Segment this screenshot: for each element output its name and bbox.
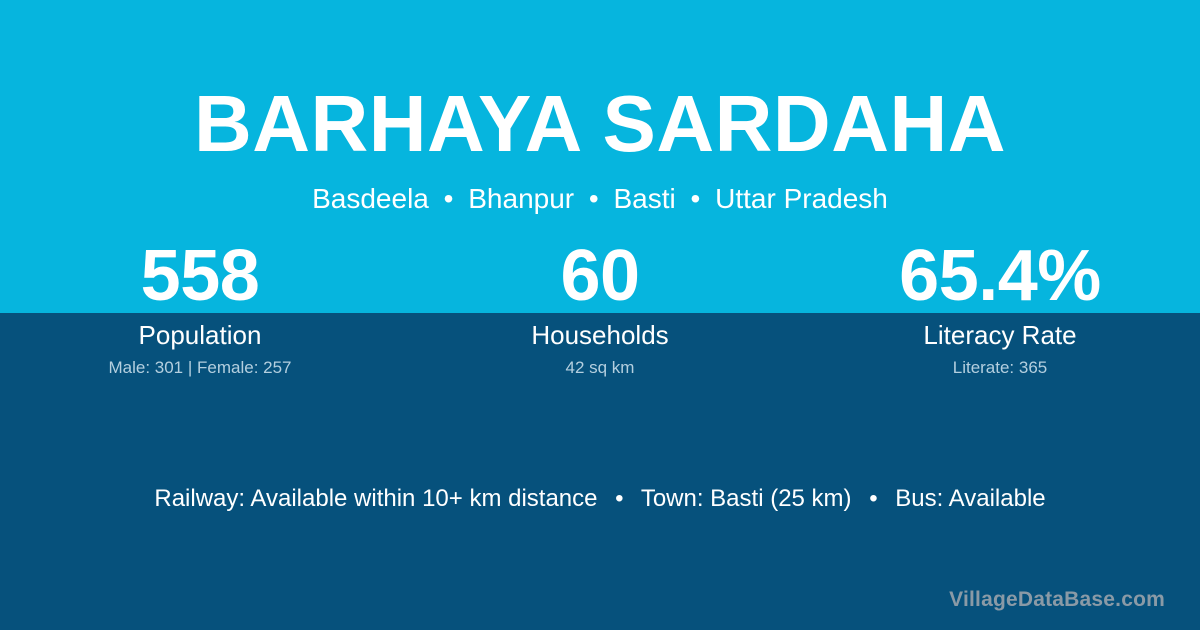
stat-literacy-rate: 65.4% Literacy Rate Literate: 365 [800, 240, 1200, 378]
stat-sub-detail: Male: 301 | Female: 257 [0, 358, 400, 378]
transport-separator-icon: • [604, 485, 634, 512]
stat-households: 60 Households 42 sq km [400, 240, 800, 378]
transport-town: Town: Basti (25 km) [641, 485, 852, 512]
breadcrumb-separator-icon: • [582, 183, 606, 214]
stat-sub-detail: 42 sq km [400, 358, 800, 378]
transport-info-line: Railway: Available within 10+ km distanc… [0, 484, 1200, 514]
card-header: BARHAYA SARDAHA Basdeela • Bhanpur • Bas… [0, 0, 1200, 215]
stat-value: 558 [0, 240, 400, 313]
stat-label: Literacy Rate [800, 320, 1200, 350]
breadcrumb-village-block: Basdeela [312, 183, 429, 214]
page-title: BARHAYA SARDAHA [0, 0, 1200, 164]
transport-railway: Railway: Available within 10+ km distanc… [154, 485, 597, 512]
stat-label: Population [0, 320, 400, 350]
stat-value: 60 [400, 240, 800, 313]
breadcrumb-separator-icon: • [684, 183, 708, 214]
transport-bus: Bus: Available [895, 485, 1045, 512]
stats-row: 558 Population Male: 301 | Female: 257 6… [0, 240, 1200, 378]
stat-population: 558 Population Male: 301 | Female: 257 [0, 240, 400, 378]
breadcrumb-separator-icon: • [437, 183, 461, 214]
breadcrumb-district: Basti [614, 183, 676, 214]
transport-separator-icon: • [858, 485, 888, 512]
breadcrumb: Basdeela • Bhanpur • Basti • Uttar Prade… [0, 164, 1200, 215]
breadcrumb-state: Uttar Pradesh [715, 183, 888, 214]
stat-value: 65.4% [800, 240, 1200, 313]
brand-watermark: VillageDataBase.com [949, 587, 1165, 613]
stat-sub-detail: Literate: 365 [800, 358, 1200, 378]
breadcrumb-sub-district: Bhanpur [468, 183, 574, 214]
stat-label: Households [400, 320, 800, 350]
village-info-card: BARHAYA SARDAHA Basdeela • Bhanpur • Bas… [0, 0, 1200, 630]
